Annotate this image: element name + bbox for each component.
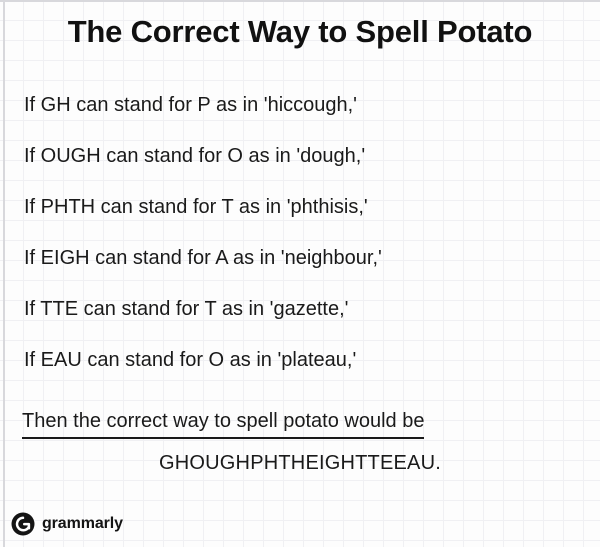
- conclusion-line: Then the correct way to spell potato wou…: [22, 408, 424, 439]
- grammarly-wordmark: grammarly: [42, 516, 123, 532]
- poster-canvas: The Correct Way to Spell Potato If GH ca…: [0, 0, 600, 547]
- grammarly-g-icon: [11, 512, 35, 536]
- premise-list: If GH can stand for P as in 'hiccough,' …: [24, 80, 584, 386]
- premise-line: If TTE can stand for T as in 'gazette,': [24, 284, 584, 335]
- page-title: The Correct Way to Spell Potato: [0, 14, 600, 50]
- premise-line: If EAU can stand for O as in 'plateau,': [24, 335, 584, 386]
- top-edge-rule: [0, 0, 600, 2]
- premise-line: If EIGH can stand for A as in 'neighbour…: [24, 233, 584, 284]
- premise-line: If PHTH can stand for T as in 'phthisis,…: [24, 182, 584, 233]
- premise-line: If OUGH can stand for O as in 'dough,': [24, 131, 584, 182]
- grammarly-logo: grammarly: [11, 512, 123, 536]
- premise-line: If GH can stand for P as in 'hiccough,': [24, 80, 584, 131]
- answer-text: GHOUGHPHTHEIGHTTEEAU.: [0, 452, 600, 475]
